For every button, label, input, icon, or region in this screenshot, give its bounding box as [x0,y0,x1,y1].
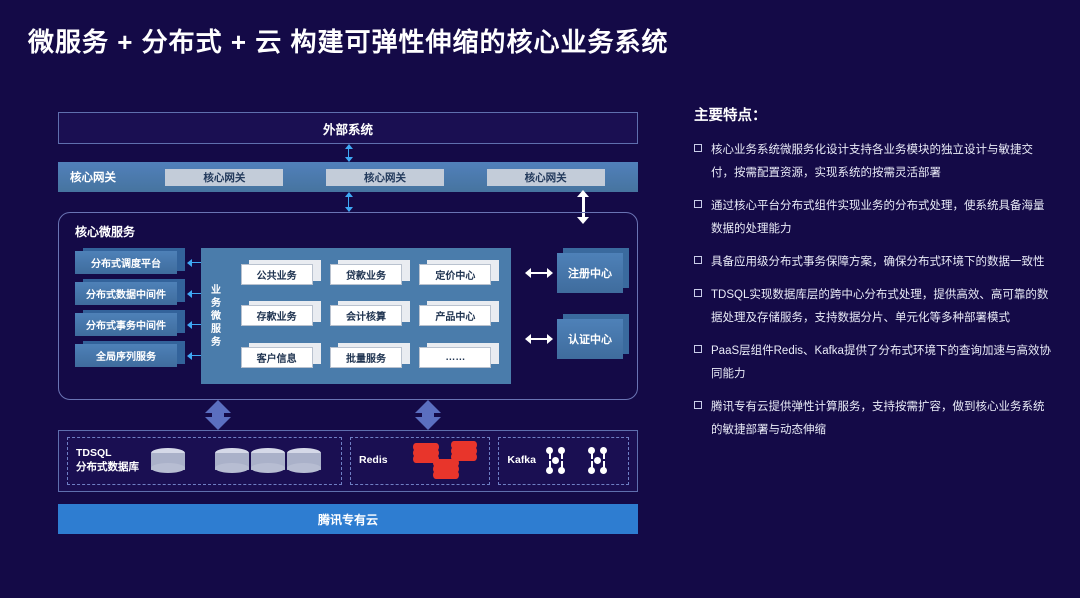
middleware-item[interactable]: 全局序列服务 [75,344,185,367]
arrow-external-to-gateway [344,144,353,162]
service-card[interactable]: 公共业务 [241,264,319,285]
arrow-up-head-icon [577,190,589,197]
feature-text: PaaS层组件Redis、Kafka提供了分布式环境下的查询加速与高效协同能力 [711,340,1054,386]
external-systems-box: 外部系统 [58,112,638,144]
arrow-down-head-icon [415,417,441,430]
data-layer: TDSQL 分布式数据库 Redis [58,430,638,492]
business-microservices-label: 业务微服务 [201,248,227,384]
arrow-line [348,197,350,207]
arrow-line [348,149,350,157]
arrow-line [531,272,547,274]
kafka-cell: Kafka [498,437,629,485]
features-panel: 主要特点： 核心业务系统微服务化设计支持各业务模块的独立设计与敏捷交付，按需配置… [694,104,1054,452]
registry-center-card[interactable]: 注册中心 [557,253,627,293]
database-cylinder-icon [151,448,185,474]
arrow-right-head-icon [547,268,553,278]
tdsql-label: TDSQL 分布式数据库 [76,447,139,474]
redis-cell: Redis [350,437,490,485]
service-label: 公共业务 [241,264,313,285]
middleware-item[interactable]: 分布式事务中间件 [75,313,185,336]
service-grid: 公共业务 贷款业务 定价中心 存款业务 会计核算 产品中心 客户信息 批量服务 … [227,248,511,384]
middleware-label: 分布式调度平台 [75,251,177,274]
kafka-node-icon [544,446,570,476]
core-microservices-title: 核心微服务 [75,223,135,240]
tdsql-cell: TDSQL 分布式数据库 [67,437,342,485]
feature-item: 核心业务系统微服务化设计支持各业务模块的独立设计与敏捷交付，按需配置资源，实现系… [694,139,1054,185]
feature-text: 核心业务系统微服务化设计支持各业务模块的独立设计与敏捷交付，按需配置资源，实现系… [711,139,1054,185]
arrow-up-head-icon [415,400,441,413]
feature-item: TDSQL实现数据库层的跨中心分布式处理，提供高效、高可靠的数据处理及存储服务，… [694,284,1054,330]
core-gateway-label: 核心网关 [70,169,144,185]
service-card[interactable]: 贷款业务 [330,264,408,285]
service-label: 存款业务 [241,305,313,326]
service-label: 客户信息 [241,347,313,368]
feature-item: 腾讯专有云提供弹性计算服务，支持按需扩容，做到核心业务系统的敏捷部署与动态伸缩 [694,396,1054,442]
kafka-label: Kafka [507,454,536,468]
arrow-core-to-data-left [205,400,231,430]
core-gateway-chips: 核心网关 核心网关 核心网关 [144,169,638,186]
core-gateway-band: 核心网关 核心网关 核心网关 核心网关 [58,162,638,192]
architecture-diagram: 外部系统 核心网关 核心网关 核心网关 核心网关 [58,112,638,540]
square-bullet-icon [694,401,702,409]
middleware-label: 全局序列服务 [75,344,177,367]
arrow-gateway-to-core [344,192,353,212]
feature-text: 具备应用级分布式事务保障方案，确保分布式环境下的数据一致性 [711,251,1045,274]
arrow-up-head-icon [205,400,231,413]
service-card[interactable]: 存款业务 [241,305,319,326]
tencent-private-cloud-label: 腾讯专有云 [318,511,378,528]
middleware-item[interactable]: 分布式数据中间件 [75,282,185,305]
features-title: 主要特点： [694,104,1054,125]
gateway-chip: 核心网关 [165,169,283,186]
external-systems-label: 外部系统 [323,119,373,138]
database-cylinder-icon [215,448,249,474]
auth-center-label: 认证中心 [557,319,623,359]
slide-root: 微服务 + 分布式 + 云 构建可弹性伸缩的核心业务系统 外部系统 核心网关 核… [0,0,1080,598]
kafka-node-icon [586,446,612,476]
connector-arrow [525,334,553,344]
registry-center-label: 注册中心 [557,253,623,293]
service-card[interactable]: …… [419,347,497,368]
square-bullet-icon [694,200,702,208]
feature-item: 通过核心平台分布式组件实现业务的分布式处理，使系统具备海量数据的处理能力 [694,195,1054,241]
feature-text: 腾讯专有云提供弹性计算服务，支持按需扩容，做到核心业务系统的敏捷部署与动态伸缩 [711,396,1054,442]
middleware-column: 分布式调度平台 分布式数据中间件 [75,251,185,375]
square-bullet-icon [694,256,702,264]
core-microservices-container: 核心微服务 分布式调度平台 分布式数据中间件 [58,212,638,400]
service-label: 批量服务 [330,347,402,368]
auth-center-card[interactable]: 认证中心 [557,319,627,359]
arrow-right-head-icon [547,334,553,344]
arrow-line [531,338,547,340]
service-label: …… [419,347,491,368]
service-card[interactable]: 客户信息 [241,347,319,368]
middleware-label: 分布式事务中间件 [75,313,177,336]
middleware-item[interactable]: 分布式调度平台 [75,251,185,274]
connector-arrow [525,268,553,278]
redis-logo-icon [411,439,481,483]
service-label: 产品中心 [419,305,491,326]
service-label: 定价中心 [419,264,491,285]
square-bullet-icon [694,289,702,297]
feature-text: TDSQL实现数据库层的跨中心分布式处理，提供高效、高可靠的数据处理及存储服务，… [711,284,1054,330]
tencent-private-cloud-bar: 腾讯专有云 [58,504,638,534]
feature-item: 具备应用级分布式事务保障方案，确保分布式环境下的数据一致性 [694,251,1054,274]
square-bullet-icon [694,144,702,152]
arrow-core-to-data-right [415,400,441,430]
square-bullet-icon [694,345,702,353]
database-cylinder-icon [251,448,285,474]
gateway-chip: 核心网关 [326,169,444,186]
redis-label: Redis [359,454,388,468]
service-label: 会计核算 [330,305,402,326]
service-card[interactable]: 会计核算 [330,305,408,326]
tdsql-label-line2: 分布式数据库 [76,461,139,473]
service-card[interactable]: 批量服务 [330,347,408,368]
database-cylinder-group [215,448,321,474]
arrow-down-head-icon [205,417,231,430]
database-cylinder-icon [287,448,321,474]
service-card[interactable]: 产品中心 [419,305,497,326]
business-microservices-panel: 业务微服务 公共业务 贷款业务 定价中心 存款业务 会计核算 产品中心 客户信息… [201,248,511,384]
middleware-label: 分布式数据中间件 [75,282,177,305]
feature-text: 通过核心平台分布式组件实现业务的分布式处理，使系统具备海量数据的处理能力 [711,195,1054,241]
gateway-chip: 核心网关 [487,169,605,186]
service-label: 贷款业务 [330,264,402,285]
tdsql-label-line1: TDSQL [76,447,112,459]
feature-item: PaaS层组件Redis、Kafka提供了分布式环境下的查询加速与高效协同能力 [694,340,1054,386]
service-card[interactable]: 定价中心 [419,264,497,285]
page-title: 微服务 + 分布式 + 云 构建可弹性伸缩的核心业务系统 [28,22,669,59]
center-column: 注册中心 认证中心 [557,253,627,385]
